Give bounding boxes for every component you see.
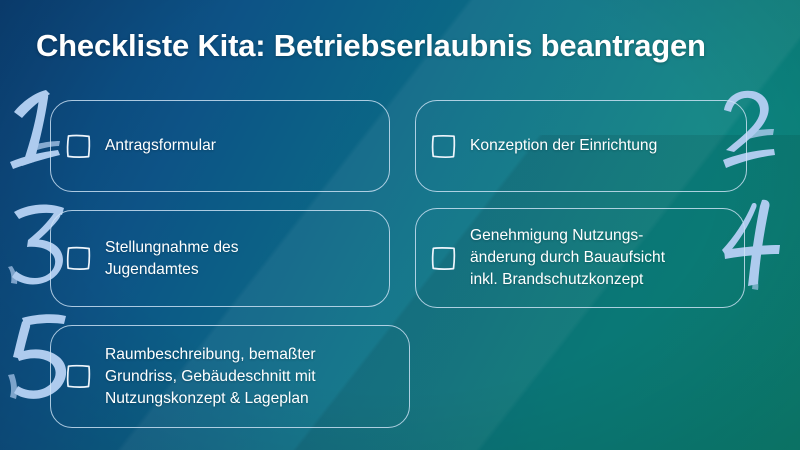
checklist-slide: Checkliste Kita: Betriebserlaubnis beant… <box>0 0 800 450</box>
checklist-label: Konzeption der Einrichtung <box>470 135 657 157</box>
checklist-card-5[interactable]: Raumbeschreibung, bemaßter Grundriss, Ge… <box>50 325 410 428</box>
checklist-card-2[interactable]: Konzeption der Einrichtung <box>415 100 747 192</box>
checklist-label: Antragsformular <box>105 135 216 157</box>
checklist-card-4[interactable]: Genehmigung Nutzungs- änderung durch Bau… <box>415 208 745 308</box>
checklist-card-3[interactable]: Stellungnahme des Jugendamtes <box>50 210 390 307</box>
checklist-label: Genehmigung Nutzungs- änderung durch Bau… <box>470 225 665 291</box>
unchecked-checkbox-icon[interactable] <box>430 245 457 272</box>
unchecked-checkbox-icon[interactable] <box>65 363 92 390</box>
checklist-label: Stellungnahme des Jugendamtes <box>105 237 239 281</box>
checklist-card-1[interactable]: Antragsformular <box>50 100 390 192</box>
checklist-label: Raumbeschreibung, bemaßter Grundriss, Ge… <box>105 344 316 410</box>
unchecked-checkbox-icon[interactable] <box>430 133 457 160</box>
page-title: Checkliste Kita: Betriebserlaubnis beant… <box>36 28 706 64</box>
unchecked-checkbox-icon[interactable] <box>65 245 92 272</box>
unchecked-checkbox-icon[interactable] <box>65 133 92 160</box>
